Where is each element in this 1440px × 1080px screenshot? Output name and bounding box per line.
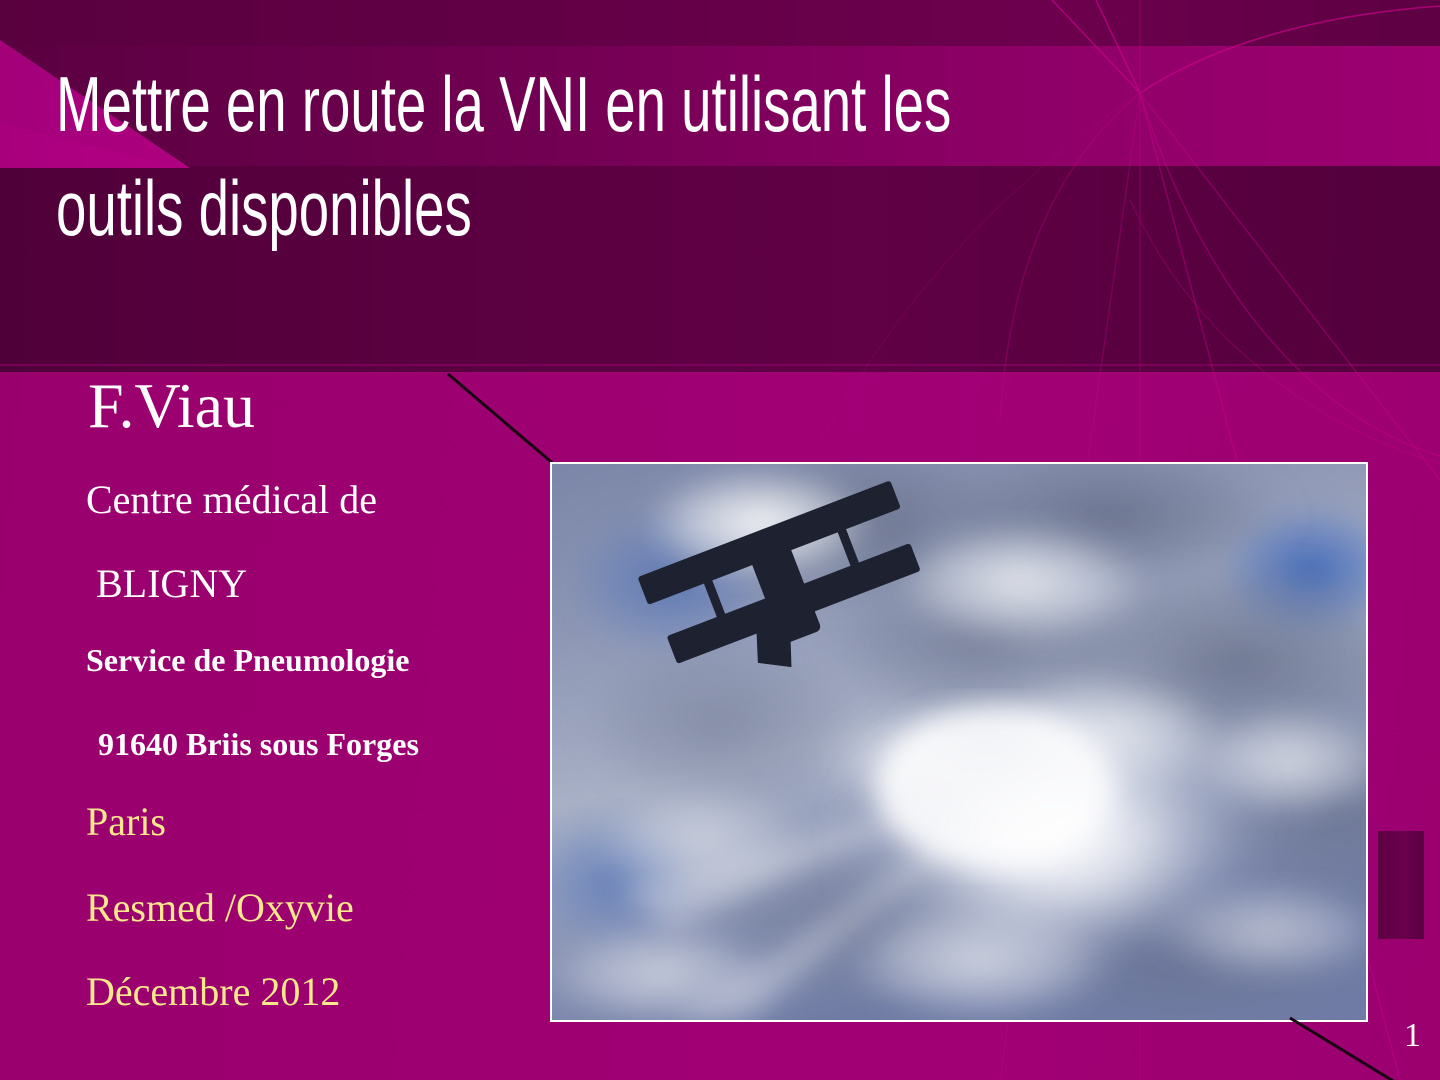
city-label: Paris: [86, 800, 166, 844]
author-name: F.Viau: [88, 372, 255, 440]
page-number: 1: [1404, 1018, 1421, 1054]
band-hairline: [0, 364, 1440, 366]
biplane-in-clouds-image: [552, 464, 1366, 1020]
affiliation-line-1: Centre médical de: [86, 478, 377, 522]
affiliation-line-3: Service de Pneumologie: [86, 638, 409, 682]
affiliation-line-4: 91640 Briis sous Forges: [98, 722, 419, 766]
sponsors-label: Resmed /Oxyvie: [86, 886, 354, 930]
presentation-slide: Mettre en route la VNI en utilisant les …: [0, 0, 1440, 1080]
date-label: Décembre 2012: [86, 970, 340, 1014]
slide-photo: [550, 462, 1368, 1022]
top-strip: [0, 0, 1440, 46]
right-edge-accent-block: [1378, 831, 1424, 939]
page-title: Mettre en route la VNI en utilisant les …: [56, 52, 994, 260]
affiliation-line-2: BLIGNY: [96, 562, 247, 606]
